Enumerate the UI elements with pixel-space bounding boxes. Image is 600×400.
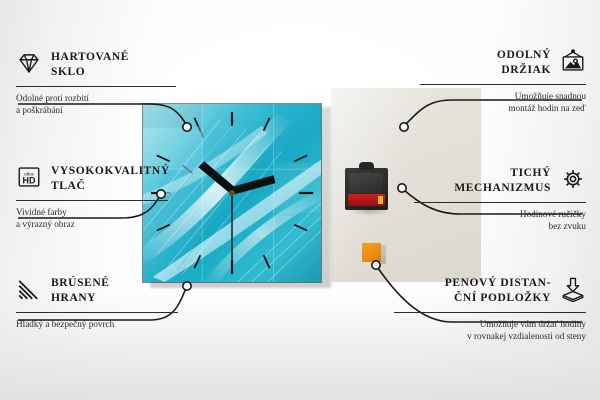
desc-line1: Odolné proti rozbití — [16, 93, 89, 103]
feature-title: BRÚSENÉ HRANY — [51, 276, 110, 306]
feature-title-line2: ČNÍ PODLOŽKY — [454, 292, 551, 304]
feature-title-line1: PENOVÝ DISTAN- — [445, 277, 551, 289]
feature-title-line1: VYSOKOKVALITNÝ — [51, 165, 170, 177]
desc-line1: Vividné farby — [16, 207, 67, 217]
feature-title: VYSOKOKVALITNÝ TLAČ — [51, 164, 170, 194]
feature-high-quality-print: ultra HD VYSOKOKVALITNÝ TLAČ Vividné far… — [16, 164, 168, 231]
svg-text:HD: HD — [23, 176, 36, 186]
desc-line2: v rovnakej vzdialenosti od steny — [467, 331, 586, 341]
wall-mount-picture-icon — [560, 48, 586, 74]
feature-title-line2: DRŽIAK — [501, 64, 551, 76]
feature-tempered-glass: HARTOVANÉ SKLO Odolné proti rozbití a po… — [16, 50, 176, 117]
feature-title-line2: SKLO — [51, 66, 85, 78]
desc-line2: montáž hodin na zeď — [508, 103, 586, 113]
divider — [414, 202, 586, 203]
feature-title: ODOLNÝ DRŽIAK — [497, 48, 551, 78]
desc-line1: Umožňuje vám držať hodiny — [480, 319, 586, 329]
diamond-icon — [16, 50, 42, 76]
feature-title-line1: BRÚSENÉ — [51, 277, 110, 289]
desc-line2: bez zvuku — [549, 221, 587, 231]
divider — [420, 84, 586, 85]
foam-spacer-arrow-icon — [560, 276, 586, 302]
ultra-hd-icon: ultra HD — [16, 164, 42, 190]
divider — [394, 312, 586, 313]
desc-line1: Hodinové ručičky — [520, 209, 586, 219]
feature-title: TICHÝ MECHANIZMUS — [454, 166, 551, 196]
feature-description: Hladký a bezpečný povrch — [16, 318, 178, 330]
desc-line2: a poškrábání — [16, 105, 63, 115]
infographic-canvas: HARTOVANÉ SKLO Odolné proti rozbití a po… — [0, 0, 600, 400]
desc-line1: Hladký a bezpečný povrch — [16, 319, 114, 329]
beveled-edge-icon — [16, 276, 42, 302]
feature-title: PENOVÝ DISTAN- ČNÍ PODLOŽKY — [445, 276, 551, 306]
feature-description: Umožňuje snadnou montáž hodin na zeď — [420, 90, 586, 115]
feature-description: Vividné farby a výrazný obraz — [16, 206, 168, 231]
feature-beveled-edges: BRÚSENÉ HRANY Hladký a bezpečný povrch — [16, 276, 178, 330]
feature-description: Hodinové ručičky bez zvuku — [414, 208, 586, 233]
feature-foam-spacers: PENOVÝ DISTAN- ČNÍ PODLOŽKY Umožňuje vám… — [394, 276, 586, 343]
feature-durable-holder: ODOLNÝ DRŽIAK Umožňuje snadnou montáž ho… — [420, 48, 586, 115]
feature-title: HARTOVANÉ SKLO — [51, 50, 129, 80]
feature-title-line1: HARTOVANÉ — [51, 51, 129, 63]
feature-title-line2: TLAČ — [51, 180, 85, 192]
feature-title-line1: TICHÝ — [510, 167, 551, 179]
feature-description: Odolné proti rozbití a poškrábání — [16, 92, 176, 117]
divider — [16, 86, 176, 87]
feature-title-line1: ODOLNÝ — [497, 49, 551, 61]
feature-title-line2: HRANY — [51, 292, 96, 304]
feature-silent-mechanism: TICHÝ MECHANIZMUS Hodinové ručičky bez z… — [414, 166, 586, 233]
gear-icon — [560, 166, 586, 192]
feature-title-line2: MECHANIZMUS — [454, 182, 551, 194]
feature-description: Umožňuje vám držať hodiny v rovnakej vzd… — [394, 318, 586, 343]
desc-line1: Umožňuje snadnou — [515, 91, 586, 101]
divider — [16, 312, 178, 313]
divider — [16, 200, 168, 201]
desc-line2: a výrazný obraz — [16, 219, 75, 229]
